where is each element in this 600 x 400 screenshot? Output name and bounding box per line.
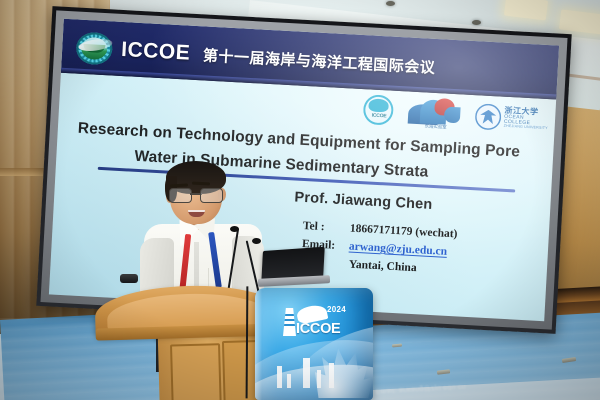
podium-brand: ICCOE	[296, 321, 340, 337]
ocean-wave-logo-icon: 东海实验室	[407, 96, 463, 133]
microphone-capsule-2	[252, 238, 261, 244]
banner-chinese-title: 第十一届海岸与海洋工程国际会议	[203, 44, 436, 78]
ocean-wave-logo-label: 东海实验室	[413, 123, 457, 130]
iccoe-circle-logo-icon: ICCOE	[362, 94, 396, 128]
microphone-capsule-1	[230, 226, 239, 232]
projection-screen-frame: ICCOE 第十一届海岸与海洋工程国际会议 ICCOE 东海实验室	[36, 6, 571, 334]
podium-city-graphic	[273, 350, 349, 394]
iccoe-circle-logo-label: ICCOE	[367, 112, 391, 119]
microphone-base	[120, 274, 138, 283]
ceiling-spot-1	[386, 1, 395, 6]
zju-logo-en2: ZHEJIANG UNIVERSITY	[504, 125, 549, 131]
tel-label: Tel :	[302, 217, 343, 237]
podium-banner: 2024 ICCOE	[255, 288, 373, 400]
sponsor-logo-row: ICCOE 东海实验室 浙江大学 OCEAN COLLEGE ZHEJIANG …	[362, 93, 550, 137]
zhejiang-university-seal-icon: 浙江大学 OCEAN COLLEGE ZHEJIANG UNIVERSITY	[474, 100, 550, 136]
iccoe-seal-icon	[73, 28, 115, 68]
glasses-icon	[169, 188, 223, 202]
lighthouse-icon	[283, 308, 296, 336]
podium-logo: 2024 ICCOE	[283, 304, 363, 340]
lectern-panel-left	[170, 343, 222, 400]
podium-year: 2024	[327, 305, 346, 314]
banner-brand: ICCOE	[121, 38, 191, 66]
screenshot-root: Email: arwang@zju.edu.cn ICCOE 第十一届海岸与海洋…	[0, 0, 600, 400]
presenter-name: Prof. Jiawang Chen	[294, 190, 433, 213]
ceiling-spot-2	[472, 20, 481, 25]
